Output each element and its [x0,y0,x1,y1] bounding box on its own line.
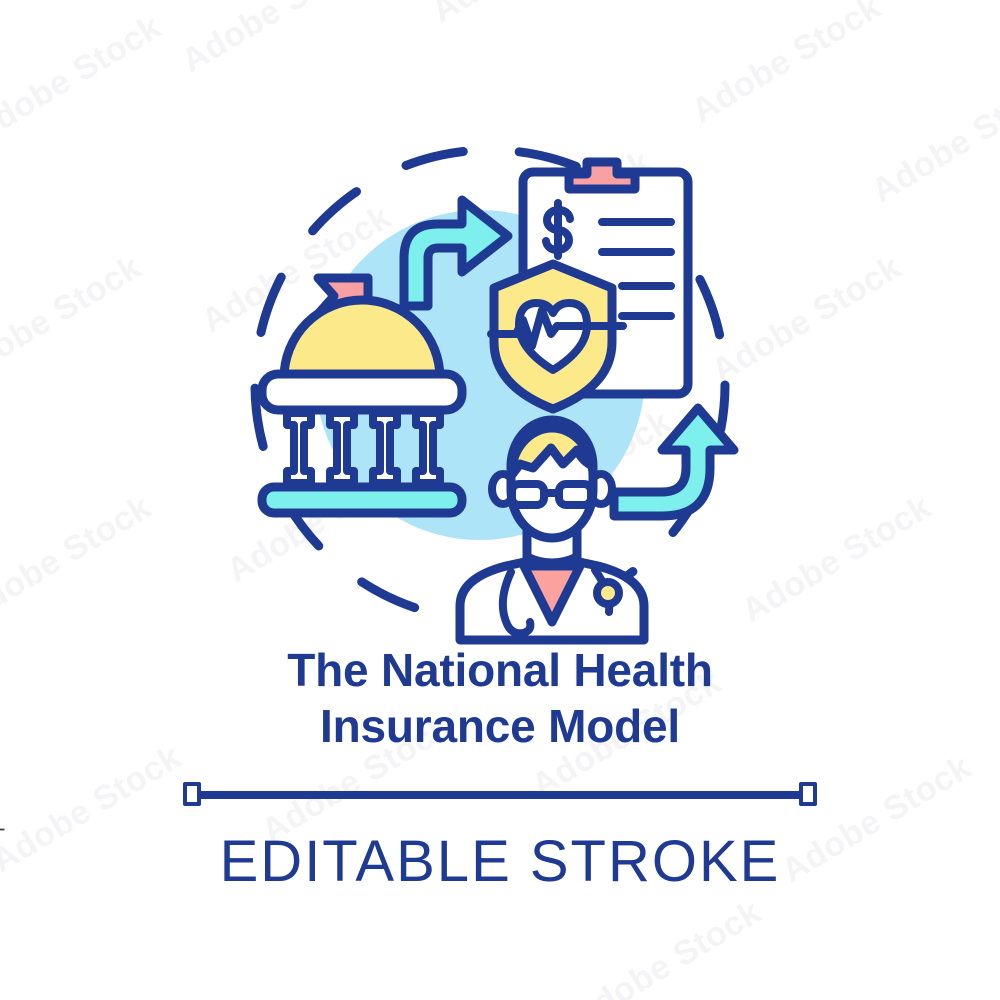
column [287,413,311,483]
stroke-handle-right[interactable] [799,782,817,806]
page-title-line-1: The National Health [0,642,1000,698]
dollar-sign-icon [546,203,570,256]
editable-stroke-label: EDITABLE STROKE [0,828,1000,895]
stroke-path-preview [183,778,817,812]
editable-stroke-widget: EDITABLE STROKE [0,778,1000,895]
column [330,413,354,483]
building-base [262,487,462,513]
column [416,413,440,483]
page-title: The National Health Insurance Model [0,642,1000,754]
page-title-line-2: Insurance Model [0,698,1000,754]
stroke-handle-left[interactable] [183,782,201,806]
stroke-path-line [197,791,803,799]
concept-icon-canvas: Adobe Stock Adobe Stock Adobe Stock Adob… [0,0,1000,1000]
entablature [262,374,462,410]
stock-watermark-id: Adobe Stock | #509788576 [0,699,6,962]
column [373,413,397,483]
